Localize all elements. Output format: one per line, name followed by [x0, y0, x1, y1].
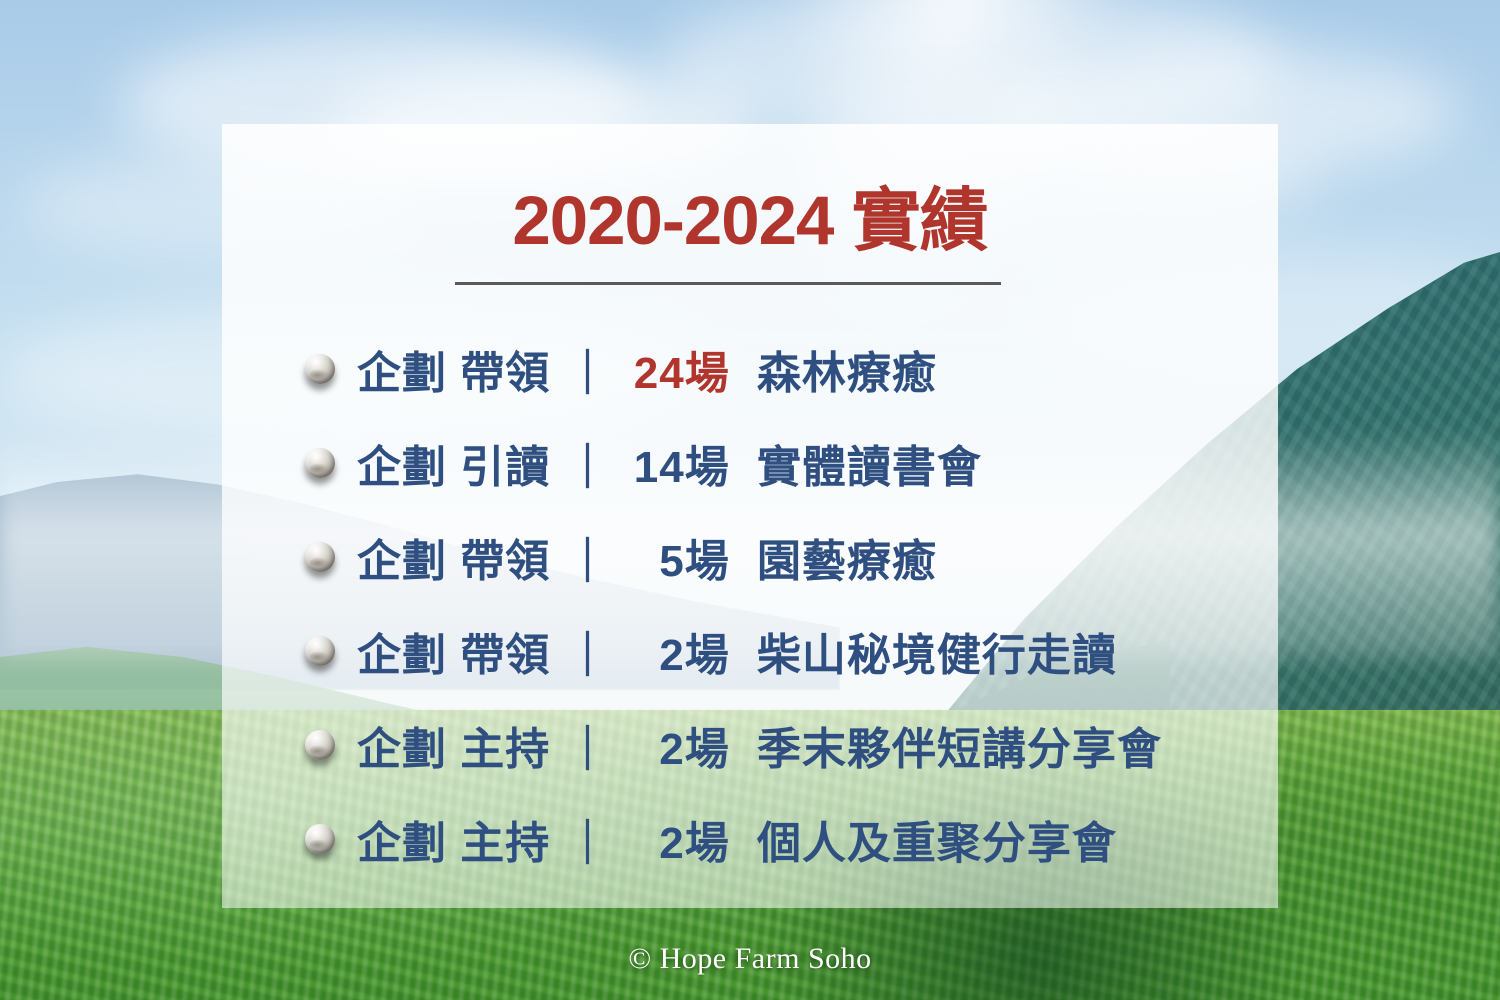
achievement-separator: ｜ — [563, 431, 612, 495]
achievement-count: 5場 — [626, 525, 730, 589]
title-divider — [455, 282, 1001, 285]
metallic-sphere-bullet-icon — [305, 448, 335, 478]
achievement-count: 2場 — [626, 807, 730, 871]
metallic-sphere-bullet-icon — [305, 636, 335, 666]
achievement-list: 企劃 帶領 ｜ 24場 森林療癒 企劃 引讀 ｜ 14場 實體讀書會 — [222, 322, 1278, 886]
achievement-text: 企劃 帶領 ｜ 24場 森林療癒 — [357, 337, 937, 401]
list-item: 企劃 主持 ｜ 2場 個人及重聚分享會 — [222, 792, 1278, 886]
achievement-role: 主持 — [460, 713, 550, 777]
achievement-separator: ｜ — [563, 619, 612, 683]
achievement-planner: 企劃 — [357, 525, 447, 589]
metallic-sphere-bullet-icon — [305, 354, 335, 384]
list-item: 企劃 帶領 ｜ 2場 柴山秘境健行走讀 — [222, 604, 1278, 698]
copyright-footer: © Hope Farm Soho — [0, 942, 1500, 976]
achievement-count: 14場 — [626, 431, 730, 495]
achievement-separator: ｜ — [563, 525, 612, 589]
achievement-count: 2場 — [626, 713, 730, 777]
achievement-count: 2場 — [626, 619, 730, 683]
list-item: 企劃 引讀 ｜ 14場 實體讀書會 — [222, 416, 1278, 510]
achievement-program: 柴山秘境健行走讀 — [743, 619, 1117, 683]
achievement-text: 企劃 帶領 ｜ 5場 園藝療癒 — [357, 525, 937, 589]
achievement-planner: 企劃 — [357, 807, 447, 871]
achievement-role: 帶領 — [460, 619, 550, 683]
metallic-sphere-bullet-icon — [305, 730, 335, 760]
presentation-slide: 2020-2024 實績 企劃 帶領 ｜ 24場 森林療癒 企劃 引讀 ｜ — [0, 0, 1500, 1000]
metallic-sphere-bullet-icon — [305, 824, 335, 854]
achievement-text: 企劃 主持 ｜ 2場 季末夥伴短講分享會 — [357, 713, 1162, 777]
achievement-program: 個人及重聚分享會 — [743, 807, 1117, 871]
achievement-planner: 企劃 — [357, 619, 447, 683]
achievement-text: 企劃 主持 ｜ 2場 個人及重聚分享會 — [357, 807, 1117, 871]
achievement-count: 24場 — [626, 337, 730, 401]
achievement-separator: ｜ — [563, 807, 612, 871]
achievement-text: 企劃 帶領 ｜ 2場 柴山秘境健行走讀 — [357, 619, 1117, 683]
metallic-sphere-bullet-icon — [305, 542, 335, 572]
list-item: 企劃 主持 ｜ 2場 季末夥伴短講分享會 — [222, 698, 1278, 792]
achievement-role: 引讀 — [460, 431, 550, 495]
achievement-separator: ｜ — [563, 713, 612, 777]
achievement-program: 森林療癒 — [743, 337, 937, 401]
achievement-program: 園藝療癒 — [743, 525, 937, 589]
achievement-program: 季末夥伴短講分享會 — [743, 713, 1162, 777]
achievement-program: 實體讀書會 — [743, 431, 982, 495]
content-panel: 2020-2024 實績 企劃 帶領 ｜ 24場 森林療癒 企劃 引讀 ｜ — [222, 124, 1278, 908]
achievement-separator: ｜ — [563, 337, 612, 401]
list-item: 企劃 帶領 ｜ 5場 園藝療癒 — [222, 510, 1278, 604]
achievement-role: 帶領 — [460, 525, 550, 589]
achievement-text: 企劃 引讀 ｜ 14場 實體讀書會 — [357, 431, 982, 495]
slide-title: 2020-2024 實績 — [222, 164, 1278, 264]
achievement-role: 主持 — [460, 807, 550, 871]
achievement-role: 帶領 — [460, 337, 550, 401]
achievement-planner: 企劃 — [357, 713, 447, 777]
achievement-planner: 企劃 — [357, 431, 447, 495]
achievement-planner: 企劃 — [357, 337, 447, 401]
list-item: 企劃 帶領 ｜ 24場 森林療癒 — [222, 322, 1278, 416]
